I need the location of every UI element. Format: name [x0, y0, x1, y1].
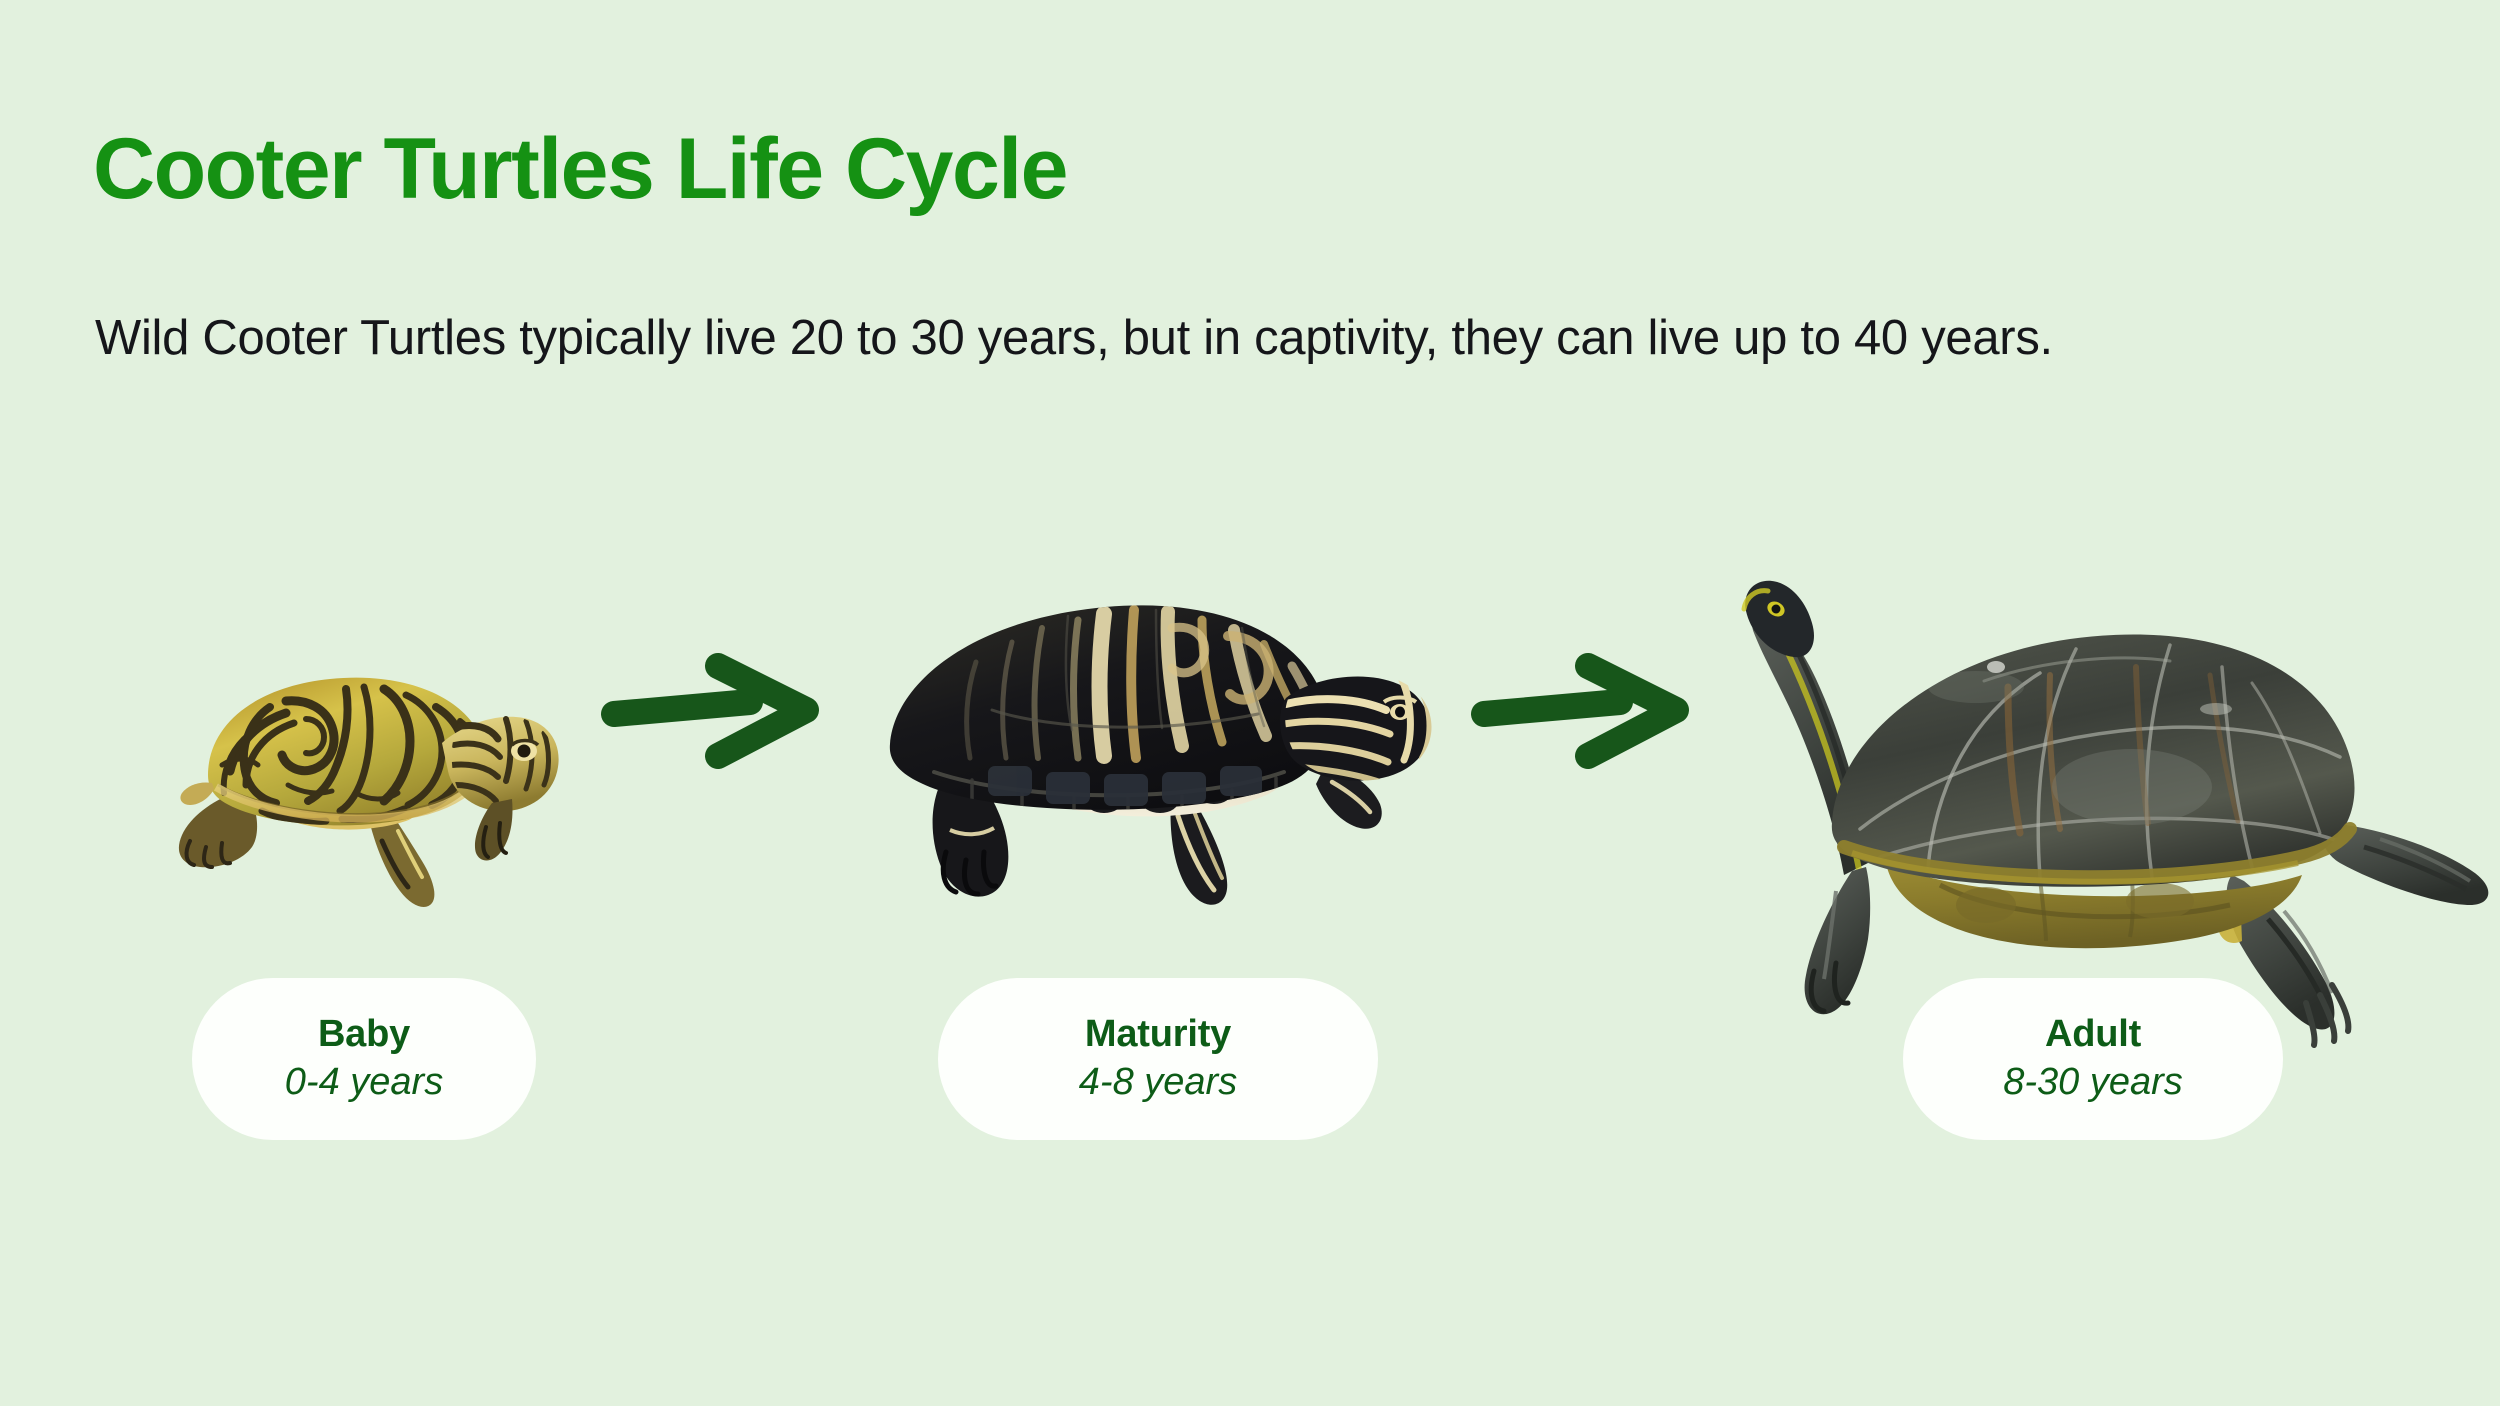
- arrow-baby-to-maturity-icon: [600, 652, 830, 772]
- stage-pill-baby[interactable]: Baby 0-4 years: [192, 978, 536, 1140]
- page-title: Cooter Turtles Life Cycle: [93, 126, 1067, 212]
- stage-range-adult: 8-30 years: [2003, 1062, 2183, 1104]
- page-subtitle: Wild Cooter Turtles typically live 20 to…: [95, 304, 2053, 374]
- stage-label-adult: Adult: [2045, 1014, 2141, 1056]
- lifecycle-stage-row: [0, 540, 2500, 1010]
- baby-turtle-image: [160, 615, 580, 915]
- stage-pill-adult[interactable]: Adult 8-30 years: [1903, 978, 2283, 1140]
- stage-label-baby: Baby: [318, 1014, 410, 1056]
- infographic-canvas: Cooter Turtles Life Cycle Wild Cooter Tu…: [0, 0, 2500, 1406]
- stage-range-baby: 0-4 years: [285, 1062, 443, 1104]
- stage-label-maturity: Maturity: [1085, 1014, 1231, 1056]
- stage-pill-maturity[interactable]: Maturity 4-8 years: [938, 978, 1378, 1140]
- adult-turtle-image: [1740, 575, 2500, 1005]
- stage-range-maturity: 4-8 years: [1079, 1062, 1237, 1104]
- arrow-maturity-to-adult-icon: [1470, 652, 1700, 772]
- maturity-turtle-image: [872, 580, 1452, 920]
